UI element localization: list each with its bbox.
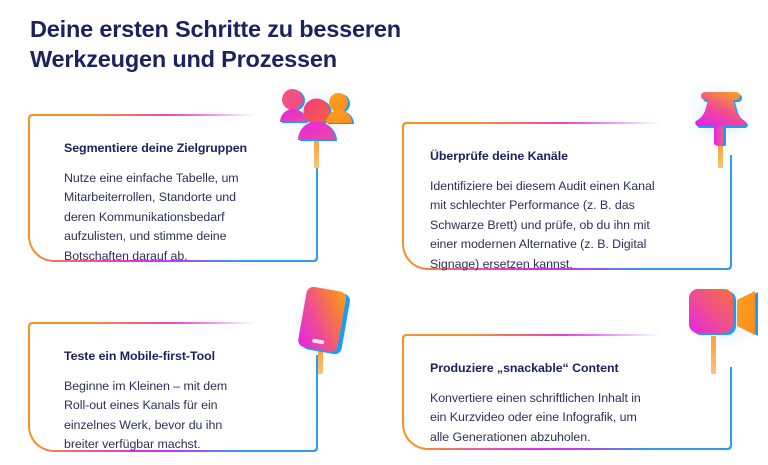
people-group-glyph: [276, 84, 358, 168]
card-title: Segmentiere deine Zielgruppen: [64, 140, 292, 156]
card-title: Überprüfe deine Kanäle: [430, 148, 710, 164]
tips-card-grid: Segmentiere deine Zielgruppen Nutze eine…: [0, 0, 768, 465]
card-content: Produziere „snackable“ Content Konvertie…: [430, 360, 710, 447]
card-content: Teste ein Mobile-first-Tool Beginne im K…: [64, 348, 292, 455]
card-description: Konvertiere einen schriftlichen Inhalt i…: [430, 389, 710, 447]
card-title: Produziere „snackable“ Content: [430, 360, 710, 376]
card-description: Beginne im Kleinen – mit dem Roll-out ei…: [64, 377, 292, 455]
tip-card-segmentiere[interactable]: Segmentiere deine Zielgruppen Nutze eine…: [28, 114, 318, 262]
card-content: Segmentiere deine Zielgruppen Nutze eine…: [64, 140, 292, 266]
video-camera-icon: [684, 284, 764, 374]
tip-card-teste[interactable]: Teste ein Mobile-first-Tool Beginne im K…: [28, 322, 318, 452]
card-title: Teste ein Mobile-first-Tool: [64, 348, 292, 364]
pushpin-icon: [686, 82, 758, 168]
tip-card-produziere[interactable]: Produziere „snackable“ Content Konvertie…: [402, 334, 732, 450]
card-description: Identifiziere bei diesem Audit einen Kan…: [430, 177, 710, 274]
card-content: Überprüfe deine Kanäle Identifiziere bei…: [430, 148, 710, 274]
smartphone-glyph: [292, 284, 362, 374]
smartphone-icon: [292, 284, 362, 374]
people-group-icon: [276, 84, 358, 168]
video-camera-glyph: [684, 284, 764, 374]
card-description: Nutze eine einfache Tabelle, um Mitarbei…: [64, 169, 292, 266]
pushpin-glyph: [686, 82, 758, 168]
tip-card-ueberpruefe[interactable]: Überprüfe deine Kanäle Identifiziere bei…: [402, 122, 732, 270]
